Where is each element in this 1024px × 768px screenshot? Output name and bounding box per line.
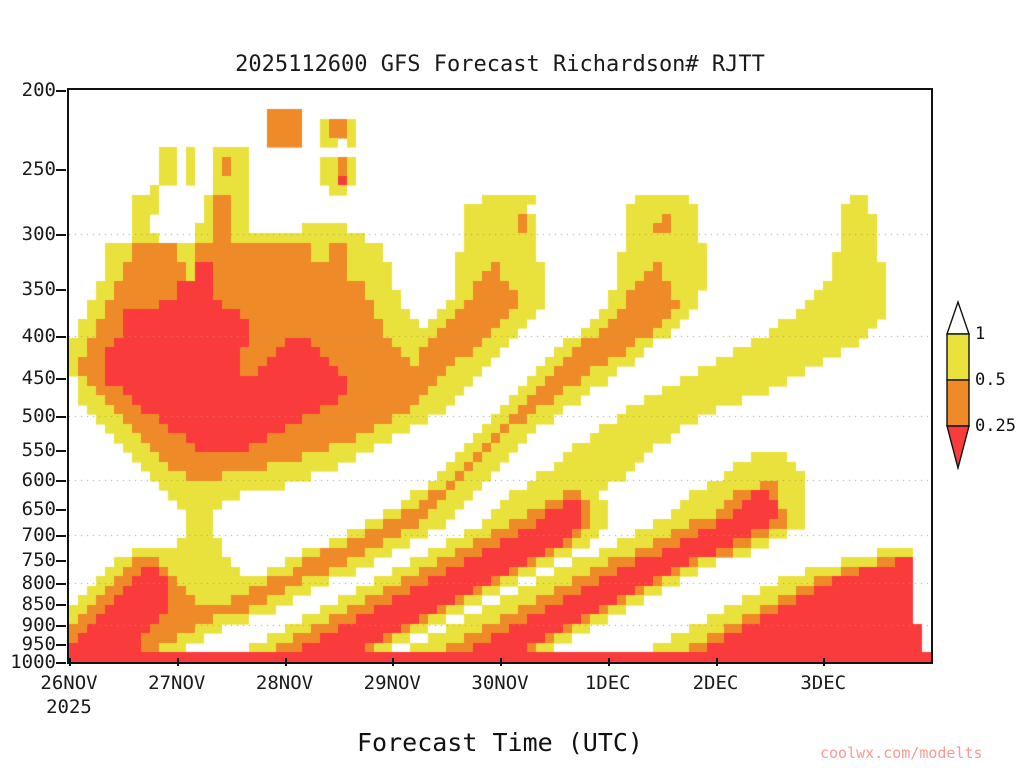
x-tick-mark [69, 658, 71, 666]
y-tick-mark [56, 289, 66, 291]
x-tick-mark [716, 658, 718, 666]
y-tick-mark [56, 535, 66, 537]
x-axis-tick-27NOV: 27NOV [148, 672, 205, 694]
y-tick-mark [56, 336, 66, 338]
x-axis-title: Forecast Time (UTC) [67, 728, 933, 757]
y-tick-mark [56, 625, 66, 627]
colorbar-label-1: 1 [975, 324, 985, 344]
colorbar-label-0.5: 0.5 [975, 370, 1006, 390]
x-axis-tick-26NOV: 26NOV [40, 672, 97, 694]
x-axis-labels: 26NOV202527NOV28NOV29NOV30NOV1DEC2DEC3DE… [67, 666, 933, 726]
y-tick-mark [56, 450, 66, 452]
y-tick-mark [56, 169, 66, 171]
richardson-number-heatmap [69, 90, 931, 662]
x-axis-year-label: 2025 [46, 696, 92, 718]
x-tick-mark [285, 658, 287, 666]
y-axis-ticks [0, 88, 67, 664]
colorbar-legend: 10.50.25 [941, 300, 1021, 470]
y-tick-mark [56, 560, 66, 562]
x-tick-mark [608, 658, 610, 666]
y-tick-mark [56, 509, 66, 511]
x-axis-tick-29NOV: 29NOV [364, 672, 421, 694]
plot-area [67, 88, 933, 664]
y-tick-mark [56, 583, 66, 585]
x-axis-tick-3DEC: 3DEC [800, 672, 846, 694]
y-tick-mark [56, 416, 66, 418]
y-tick-mark [56, 662, 66, 664]
x-axis-tick-28NOV: 28NOV [256, 672, 313, 694]
y-tick-mark [56, 644, 66, 646]
x-tick-mark [392, 658, 394, 666]
x-tick-mark [500, 658, 502, 666]
x-axis-tick-1DEC: 1DEC [585, 672, 631, 694]
y-tick-mark [56, 90, 66, 92]
x-axis-tick-30NOV: 30NOV [471, 672, 528, 694]
x-tick-mark [177, 658, 179, 666]
x-tick-mark [823, 658, 825, 666]
y-tick-mark [56, 480, 66, 482]
x-axis-tick-2DEC: 2DEC [693, 672, 739, 694]
y-tick-mark [56, 378, 66, 380]
colorbar-label-0.25: 0.25 [975, 416, 1016, 436]
y-tick-mark [56, 604, 66, 606]
page-title: 2025112600 GFS Forecast Richardson# RJTT [0, 52, 1000, 77]
y-tick-mark [56, 234, 66, 236]
watermark: coolwx.com/modelts [820, 744, 983, 762]
chart-canvas-root: 2025112600 GFS Forecast Richardson# RJTT… [0, 0, 1024, 768]
